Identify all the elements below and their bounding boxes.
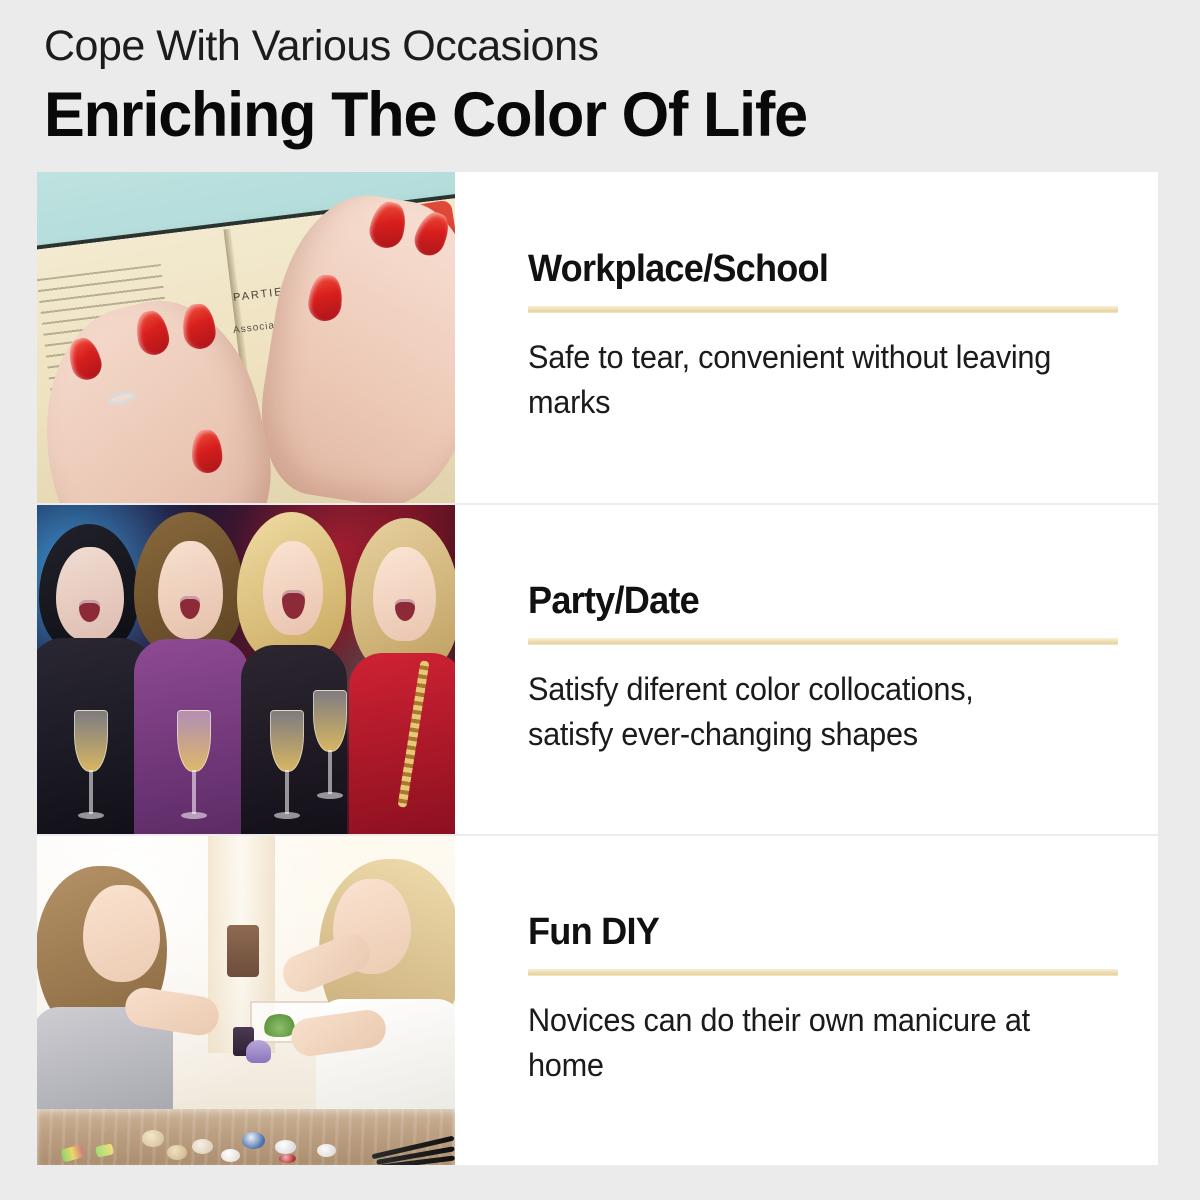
panel-title: Fun DIY	[528, 913, 1089, 953]
feature-text-workplace: Workplace/School Safe to tear, convenien…	[455, 172, 1178, 503]
champagne-flute-2	[177, 710, 211, 828]
eyebrow-text: Cope With Various Occasions	[44, 22, 1154, 70]
feature-text-party: Party/Date Satisfy diferent color colloc…	[455, 505, 1178, 834]
feature-photo-diy	[37, 836, 455, 1165]
panel-title: Workplace/School	[528, 250, 1089, 290]
title-underline-rule	[528, 306, 1118, 313]
panel-body: Novices can do their own manicure at hom…	[528, 998, 1066, 1089]
infographic-page: Cope With Various Occasions Enriching Th…	[0, 0, 1200, 1200]
champagne-flute-1	[74, 710, 108, 828]
supply-bead-1	[142, 1130, 165, 1146]
feature-text-diy: Fun DIY Novices can do their own manicur…	[455, 836, 1178, 1165]
supply-jar-white	[275, 1140, 296, 1153]
title-underline-rule	[528, 969, 1118, 976]
supply-jar-cream	[317, 1144, 336, 1157]
feature-card: PARTIE II Associations Workplace/Sc	[37, 172, 1158, 1165]
feature-row: Party/Date Satisfy diferent color colloc…	[37, 503, 1158, 834]
photo-illustration-book-nails: PARTIE II Associations	[37, 172, 455, 503]
feature-row: Fun DIY Novices can do their own manicur…	[37, 834, 1158, 1165]
page-title: Enriching The Color Of Life	[44, 80, 1121, 151]
page-header: Cope With Various Occasions Enriching Th…	[44, 22, 1154, 151]
supply-jar-blue	[242, 1132, 265, 1148]
champagne-flute-3	[270, 710, 304, 828]
feature-photo-workplace: PARTIE II Associations	[37, 172, 455, 503]
supply-bead-4	[221, 1149, 240, 1162]
head-2	[158, 541, 223, 639]
head-4	[373, 547, 436, 640]
lamp-shape	[227, 925, 258, 978]
head-3	[263, 541, 324, 635]
champagne-flute-4	[313, 690, 347, 808]
panel-body: Safe to tear, convenient without leaving…	[528, 335, 1066, 426]
diy-person-left	[37, 866, 200, 1109]
party-person-3	[233, 508, 354, 834]
head-left	[83, 885, 160, 982]
photo-illustration-party	[37, 505, 455, 834]
head-1	[56, 547, 124, 642]
diy-person-right	[288, 859, 455, 1109]
panel-body: Satisfy diferent color collocations, sat…	[528, 667, 1066, 758]
supply-bead-3	[192, 1139, 213, 1154]
party-person-4	[346, 512, 455, 834]
photo-illustration-diy	[37, 836, 455, 1165]
feature-row: PARTIE II Associations Workplace/Sc	[37, 172, 1158, 503]
polish-dish	[246, 1040, 271, 1063]
panel-title: Party/Date	[528, 582, 1089, 622]
feature-photo-party	[37, 505, 455, 834]
title-underline-rule	[528, 638, 1118, 645]
